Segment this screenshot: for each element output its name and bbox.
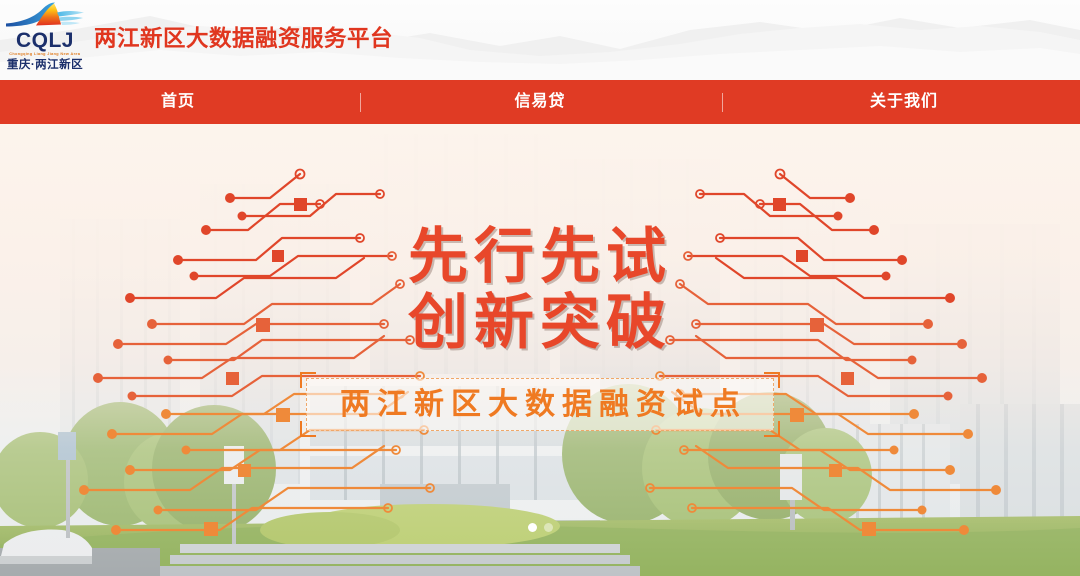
site-logo[interactable]: CQLJ Chongqing Liang Jiang New Area 重庆·两…	[4, 0, 86, 80]
nav-divider-2	[722, 93, 723, 112]
logo-english-name: Chongqing Liang Jiang New Area	[9, 53, 80, 57]
swoosh-logo-icon	[5, 1, 85, 31]
main-navigation: 首页 信易贷 关于我们	[0, 80, 1080, 124]
logo-acronym: CQLJ	[16, 30, 74, 51]
site-title: 两江新区大数据融资服务平台	[94, 28, 393, 51]
nav-item-about[interactable]: 关于我们	[854, 80, 954, 124]
carousel-indicators	[0, 523, 1080, 532]
page-root: CQLJ Chongqing Liang Jiang New Area 重庆·两…	[0, 0, 1080, 576]
logo-chinese-name: 重庆·两江新区	[7, 60, 83, 72]
nav-item-home[interactable]: 首页	[140, 80, 216, 124]
carousel-dot-2[interactable]	[544, 523, 553, 532]
circuit-pattern-left-icon	[0, 138, 440, 558]
circuit-pattern-right-icon	[640, 138, 1080, 558]
nav-item-xinyidai[interactable]: 信易贷	[492, 80, 588, 124]
site-header: CQLJ Chongqing Liang Jiang New Area 重庆·两…	[0, 0, 1080, 80]
hero-banner[interactable]: 先行先试 创新突破 两江新区大数据融资试点	[0, 124, 1080, 576]
nav-divider-1	[360, 93, 361, 112]
nav-inner: 首页 信易贷 关于我们	[0, 80, 1080, 124]
carousel-dot-1[interactable]	[528, 523, 537, 532]
